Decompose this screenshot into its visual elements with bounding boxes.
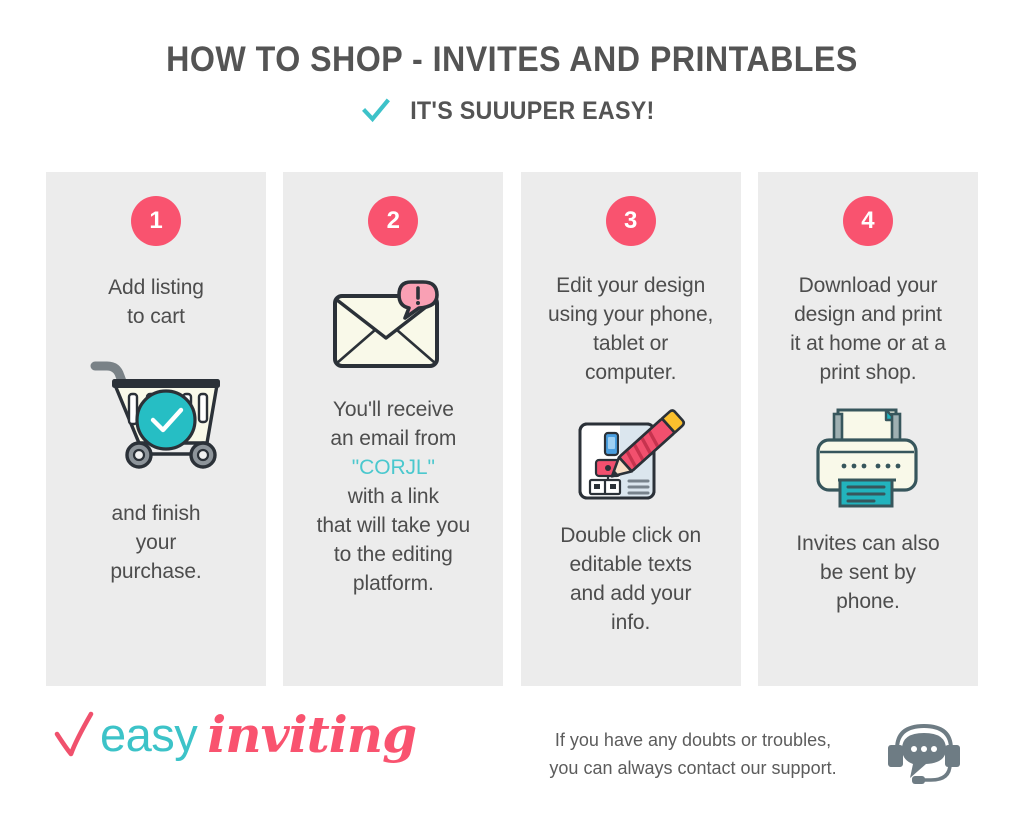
step-number-badge-4: 4 xyxy=(843,196,893,246)
support-text: If you have any doubts or troubles,you c… xyxy=(528,727,858,783)
document-pencil-edit-icon xyxy=(572,402,690,502)
step-number-badge-2: 2 xyxy=(368,196,418,246)
page-header: HOW TO SHOP - INVITES AND PRINTABLES IT'… xyxy=(0,0,1024,126)
printer-icon xyxy=(808,404,928,508)
page-title: HOW TO SHOP - INVITES AND PRINTABLES xyxy=(41,40,983,80)
step-3-text-bottom: Double click oneditable textsand add you… xyxy=(531,522,731,638)
step-card-3: 3 Edit your designusing your phone,table… xyxy=(521,172,741,686)
corjl-highlight: "CORJL" xyxy=(352,456,435,479)
headset-support-icon xyxy=(886,716,962,793)
check-icon xyxy=(52,704,96,765)
brand-logo[interactable]: easy inviting xyxy=(52,704,416,765)
steps-container: 1 Add listingto cart xyxy=(46,172,978,686)
step-card-4: 4 Download yourdesign and printit at hom… xyxy=(758,172,978,686)
step-number-badge-1: 1 xyxy=(131,196,181,246)
step-3-text-top: Edit your designusing your phone,tablet … xyxy=(531,272,731,388)
step-number-badge-3: 3 xyxy=(606,196,656,246)
step-1-text-top: Add listingto cart xyxy=(56,274,256,332)
email-envelope-alert-icon xyxy=(329,276,457,372)
step-4-text-bottom: Invites can alsobe sent byphone. xyxy=(768,530,968,617)
step-card-2: 2 You'll receivean email from"CORJL"with… xyxy=(283,172,503,686)
page-subtitle: IT'S SUUUPER EASY! xyxy=(410,97,654,126)
check-icon xyxy=(361,96,391,126)
page-footer: easy inviting If you have any doubts or … xyxy=(0,696,1024,819)
step-card-1: 1 Add listingto cart xyxy=(46,172,266,686)
subtitle-row: IT'S SUUUPER EASY! xyxy=(0,96,1024,126)
support-block: If you have any doubts or troubles,you c… xyxy=(528,716,962,793)
shopping-cart-check-icon xyxy=(81,350,231,472)
step-2-text-bottom: You'll receivean email from"CORJL"with a… xyxy=(293,396,493,599)
step-4-text-top: Download yourdesign and printit at home … xyxy=(768,272,968,388)
logo-word-inviting: inviting xyxy=(207,710,416,760)
logo-word-easy: easy xyxy=(100,711,197,758)
step-1-text-bottom: and finishyourpurchase. xyxy=(56,500,256,587)
